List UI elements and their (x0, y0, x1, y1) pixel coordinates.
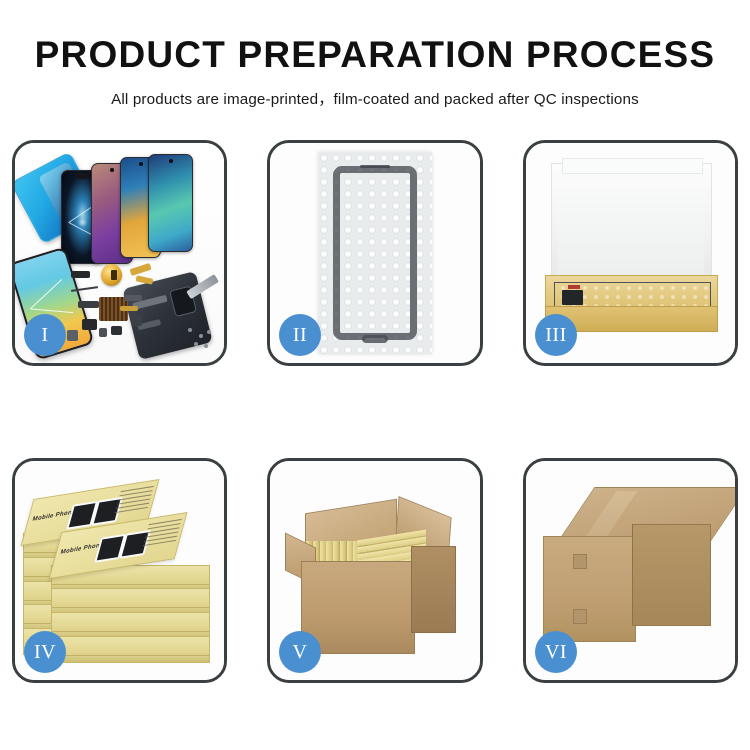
screws-group (188, 328, 213, 348)
step-badge-6: VI (535, 631, 577, 673)
component-chip (99, 328, 107, 337)
step-badge-2: II (279, 314, 321, 356)
camera-dot-icon (110, 168, 114, 172)
component-chip (78, 301, 99, 308)
product-preparation-infographic: PRODUCT PREPARATION PROCESS All products… (0, 0, 750, 750)
flex-cable-icon (120, 306, 139, 311)
step-badge-4: IV (24, 631, 66, 673)
component-chip (132, 315, 142, 326)
component-chip (71, 271, 90, 278)
label-mark-icon (568, 285, 580, 289)
step-panel-1[interactable]: I (12, 140, 227, 366)
home-button-icon (362, 335, 387, 343)
step-badge-3: III (535, 314, 577, 356)
carton-hand-slot-icon (573, 609, 587, 624)
speaker-coil-icon (101, 264, 122, 286)
earpiece-slot-icon (360, 165, 391, 169)
component-chip (82, 319, 97, 330)
step-panel-6[interactable]: VI (523, 458, 738, 683)
label-spec-lines (140, 520, 181, 558)
step-panel-2[interactable]: II (267, 140, 483, 366)
steps-grid: I II (0, 0, 750, 750)
carton-hand-slot-icon (573, 554, 587, 569)
notch-icon (75, 173, 90, 179)
white-box-inner-wall (557, 200, 703, 279)
carton-front-face (301, 561, 415, 654)
step-panel-4[interactable]: Mobile Phone Spare Parts Mobile Phone Sp… (12, 458, 227, 683)
sealed-carton (543, 487, 719, 653)
phone-lineup (61, 154, 220, 268)
stacked-box (51, 636, 209, 664)
carton-corner-seam (632, 524, 633, 624)
phone-screen-outline (333, 166, 417, 340)
component-chip (124, 295, 143, 302)
step-panel-3[interactable]: III (523, 140, 738, 366)
carton-right-face (632, 524, 711, 626)
step-panel-5[interactable]: V (267, 458, 483, 683)
phone-teal (148, 154, 193, 252)
component-chip (67, 330, 77, 341)
component-chip (111, 326, 121, 336)
step-badge-5: V (279, 631, 321, 673)
step-badge-1: I (24, 314, 66, 356)
camera-dot-icon (169, 159, 173, 163)
carton-side-face (411, 546, 456, 632)
camera-dot-icon (139, 162, 143, 166)
carton-left-face (543, 536, 636, 643)
bubble-wrap-sheet (318, 152, 431, 354)
